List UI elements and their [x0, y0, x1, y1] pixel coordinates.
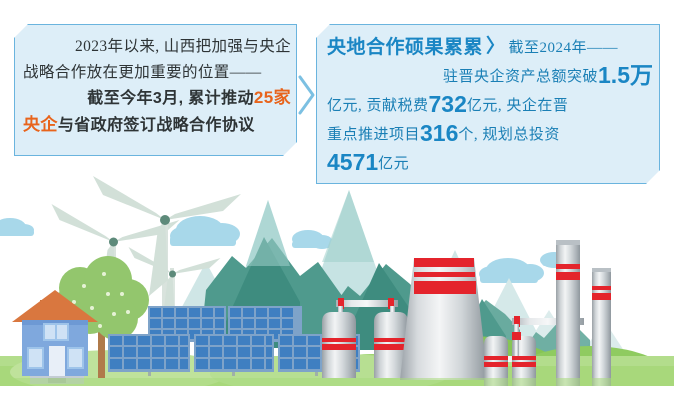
- panel-chevron-icon: [296, 74, 318, 116]
- cloud-icon: [288, 220, 308, 232]
- stats-line-5: 4571亿元: [327, 149, 653, 178]
- stat-value-tax: 732: [429, 91, 467, 117]
- highlight-count-25: 25家: [254, 88, 291, 107]
- headline-chevron-icon: 〉: [483, 36, 509, 57]
- cloud-icon: [292, 230, 334, 249]
- cloud-icon: [0, 218, 34, 236]
- stats-line-2: 驻晋央企资产总额突破1.5万: [327, 62, 653, 91]
- stats-line-4-post: 个, 规划总投资: [458, 127, 560, 143]
- stats-headline: 央地合作硕果累累: [327, 37, 483, 58]
- smokestack: [556, 240, 580, 386]
- stat-value-projects: 316: [420, 120, 458, 146]
- cloud-icon: [170, 216, 240, 246]
- intro-line-2: 战略合作放在更加重要的位置——: [23, 60, 291, 86]
- intro-line-3: 截至今年3月, 累计推动25家: [23, 85, 291, 112]
- intro-line-3-text: 截至今年3月, 累计推动: [87, 90, 254, 107]
- intro-line-4: 央企与省政府签订战略合作协议: [23, 112, 291, 139]
- stats-line-5-post: 亿元: [378, 156, 409, 172]
- cooling-tower: [400, 258, 488, 380]
- stats-line-4-pre: 重点推进项目: [327, 127, 420, 143]
- stats-line-4: 重点推进项目316个, 规划总投资: [327, 120, 653, 149]
- intro-text-block: 2023年以来, 山西把加强与央企 战略合作放在更加重要的位置—— 截至今年3月…: [23, 34, 291, 138]
- stats-lead: 截至2024年——: [509, 40, 619, 56]
- highlight-央企: 央企: [23, 115, 58, 134]
- stats-line-3: 亿元, 贡献税费732亿元, 央企在晋: [327, 91, 653, 120]
- stats-callout-panel: 央地合作硕果累累〉截至2024年—— 驻晋央企资产总额突破1.5万 亿元, 贡献…: [316, 24, 660, 184]
- stats-line-3-pre: 亿元, 贡献税费: [327, 98, 429, 114]
- infographic-root: 2023年以来, 山西把加强与央企 战略合作放在更加重要的位置—— 截至今年3月…: [0, 0, 674, 411]
- stats-line-1: 央地合作硕果累累〉截至2024年——: [327, 33, 653, 62]
- intro-line-4-text: 与省政府签订战略合作协议: [58, 117, 255, 134]
- stats-text-block: 央地合作硕果累累〉截至2024年—— 驻晋央企资产总额突破1.5万 亿元, 贡献…: [327, 33, 653, 178]
- stat-value-investment: 4571: [327, 149, 378, 175]
- intro-callout-panel: 2023年以来, 山西把加强与央企 战略合作放在更加重要的位置—— 截至今年3月…: [14, 24, 297, 156]
- stats-line-2-text: 驻晋央企资产总额突破: [443, 69, 598, 85]
- smokestack: [592, 268, 611, 386]
- mountain-snowcap: [246, 190, 374, 266]
- stats-line-3-mid: 亿元, 央企在晋: [467, 98, 569, 114]
- cloud-icon: [479, 258, 544, 283]
- solar-panel-array: [108, 334, 190, 376]
- storage-tank: [322, 312, 356, 378]
- intro-line-1: 2023年以来, 山西把加强与央企: [23, 34, 291, 60]
- stat-value-assets: 1.5万: [598, 62, 653, 88]
- solar-panel-array: [194, 334, 274, 376]
